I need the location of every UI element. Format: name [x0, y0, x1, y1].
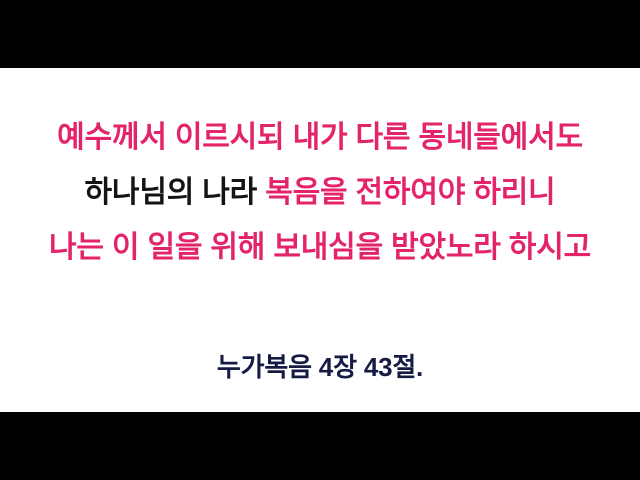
verse-slide: 예수께서 이르시되 내가 다른 동네들에서도 하나님의 나라 복음을 전하여야 …: [0, 0, 640, 480]
verse-line-2-segment-black: 하나님의 나라: [85, 176, 266, 209]
verse-line-3-text: 나는 이 일을 위해 보내심을 받았노라 하시고: [49, 231, 591, 264]
verse-line-2-segment-pink: 복음을 전하여야 하리니: [265, 176, 555, 209]
verse-line-1: 예수께서 이르시되 내가 다른 동네들에서도: [0, 110, 640, 165]
verse-line-1-text: 예수께서 이르시되 내가 다른 동네들에서도: [57, 121, 583, 154]
letterbox-bar-bottom: [0, 412, 640, 480]
verse-line-3: 나는 이 일을 위해 보내심을 받았노라 하시고: [0, 220, 640, 275]
slide-content-panel: 예수께서 이르시되 내가 다른 동네들에서도 하나님의 나라 복음을 전하여야 …: [0, 68, 640, 412]
verse-line-2: 하나님의 나라 복음을 전하여야 하리니: [0, 165, 640, 220]
letterbox-bar-top: [0, 0, 640, 68]
verse-text-block: 예수께서 이르시되 내가 다른 동네들에서도 하나님의 나라 복음을 전하여야 …: [0, 110, 640, 275]
scripture-reference: 누가복음 4장 43절.: [0, 350, 640, 384]
